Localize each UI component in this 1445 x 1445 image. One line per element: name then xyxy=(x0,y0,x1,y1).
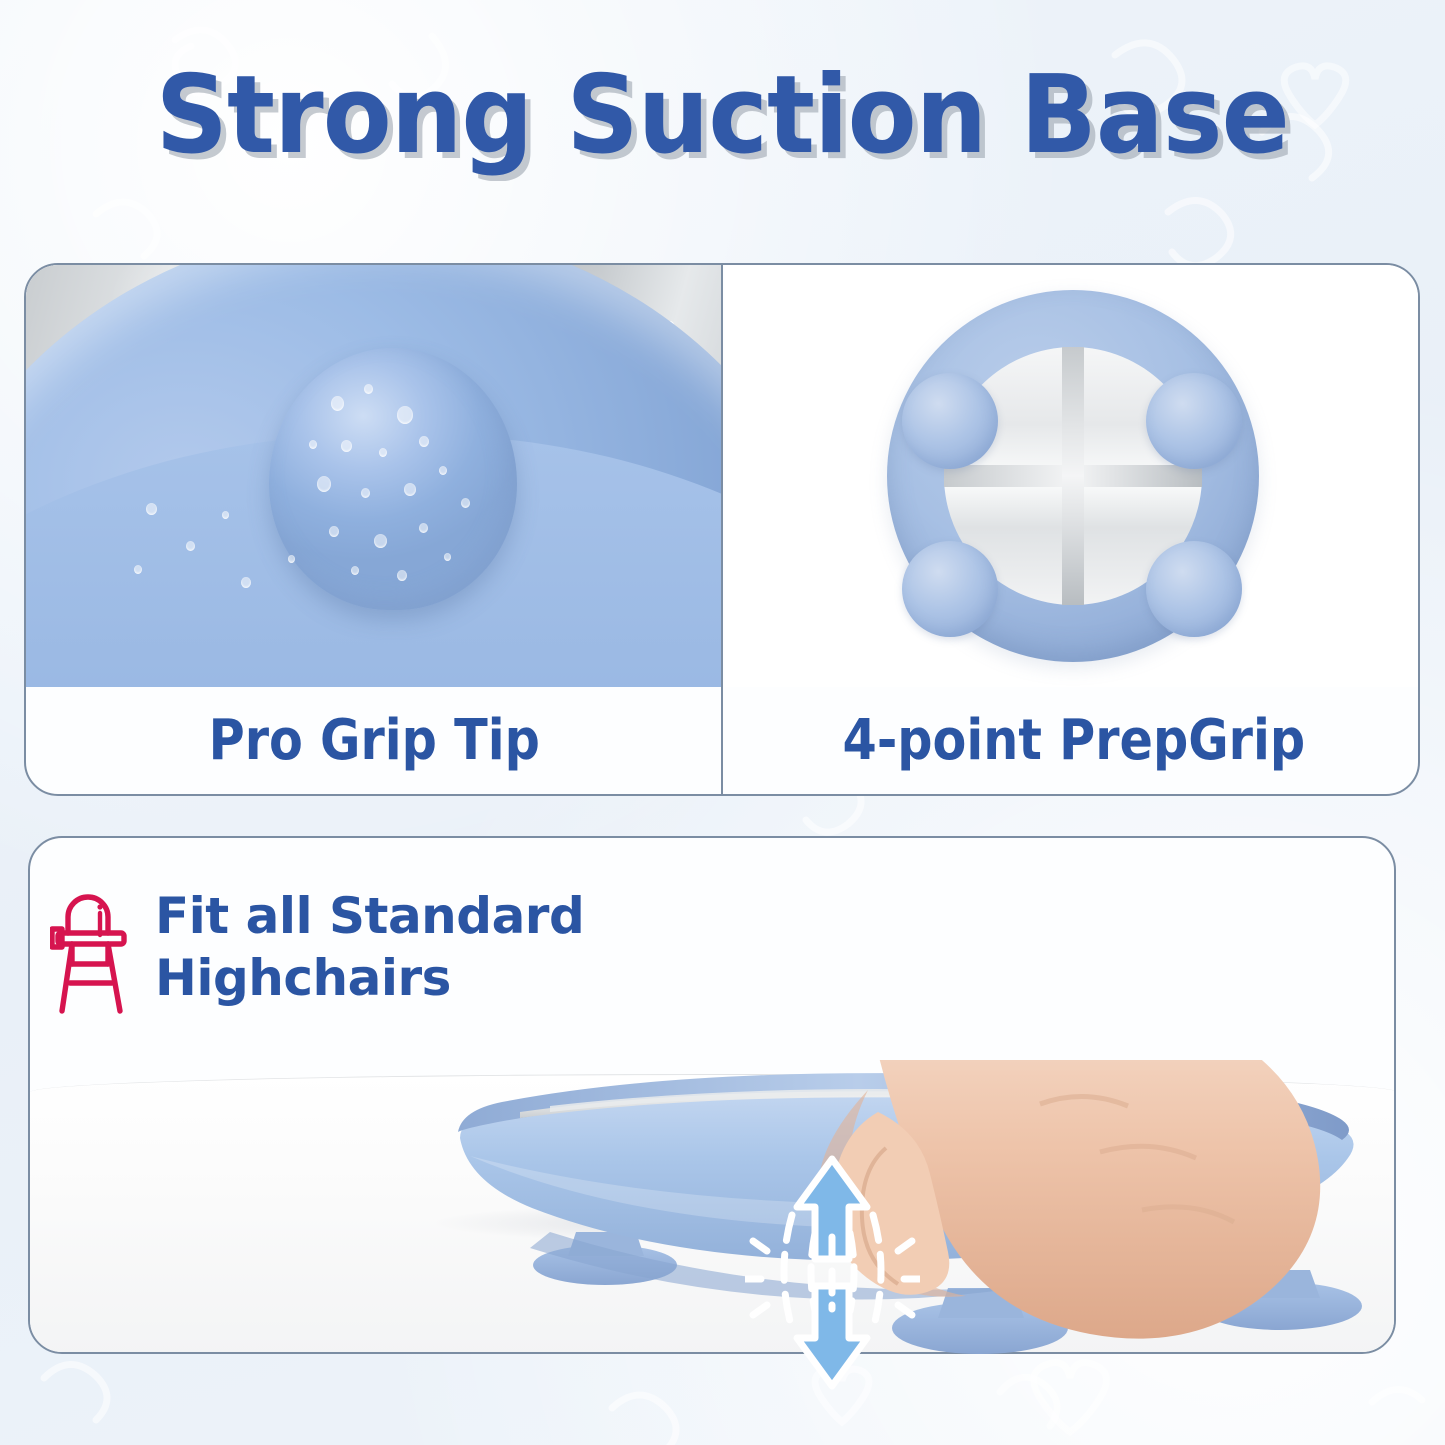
top-card-divider xyxy=(721,265,723,794)
caption-pro-grip-tip-label: Pro Grip Tip xyxy=(209,708,540,773)
grip-tip-suction-cup xyxy=(269,348,517,610)
suction-stretch-arrows-icon xyxy=(745,1155,920,1390)
highchair-icon xyxy=(50,893,132,1015)
pro-grip-tip-photo xyxy=(26,265,723,687)
fit-highchairs-line1: Fit all Standard xyxy=(155,885,584,947)
fit-highchairs-text: Fit all Standard Highchairs xyxy=(155,885,584,1009)
caption-four-point-prepgrip-label: 4-point PrepGrip xyxy=(842,708,1305,773)
page-title: Strong Suction Base xyxy=(0,62,1445,170)
suction-cup-bottom-right xyxy=(1146,541,1242,637)
arrow-down-icon xyxy=(797,1286,867,1386)
four-point-prepgrip-photo xyxy=(725,265,1420,687)
suction-cup-bottom-left xyxy=(902,541,998,637)
caption-pro-grip-tip: Pro Grip Tip xyxy=(26,687,723,794)
suction-cup-top-left xyxy=(902,373,998,469)
suction-cup-top-right xyxy=(1146,373,1242,469)
fit-highchairs-line2: Highchairs xyxy=(155,947,584,1009)
page-title-text: Strong Suction Base xyxy=(156,62,1289,170)
caption-four-point-prepgrip: 4-point PrepGrip xyxy=(725,687,1420,794)
